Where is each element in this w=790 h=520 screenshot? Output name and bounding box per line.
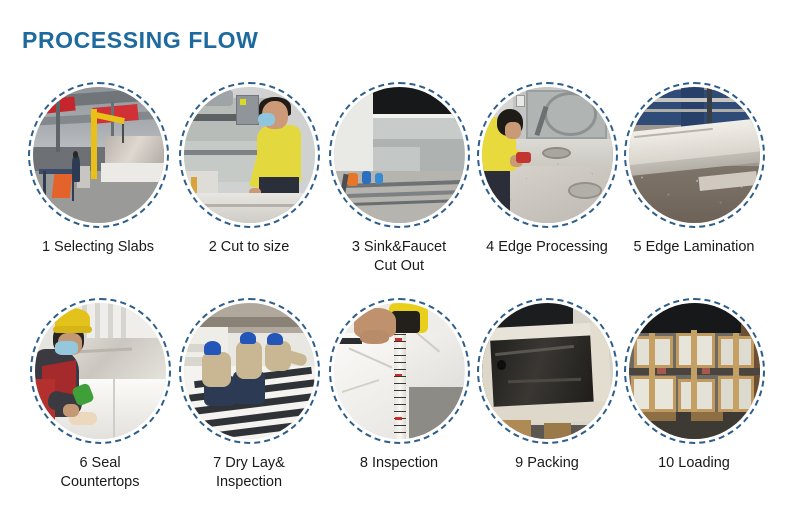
step-9-caption: 9 Packing bbox=[471, 454, 623, 473]
step-1-selecting-slabs[interactable]: 1 Selecting Slabs bbox=[22, 82, 174, 257]
step-7-image bbox=[184, 303, 315, 439]
step-7-dry-lay-inspection[interactable]: 7 Dry Lay& Inspection bbox=[173, 298, 325, 492]
step-6-caption: 6 Seal Countertops bbox=[24, 454, 176, 492]
scene-packing bbox=[482, 303, 613, 439]
scene-selecting-slabs bbox=[33, 87, 164, 223]
step-8-inspection[interactable]: 8 Inspection bbox=[323, 298, 475, 473]
scene-sink-faucet-cut-out bbox=[334, 87, 465, 223]
step-4-edge-processing[interactable]: 4 Edge Processing bbox=[471, 82, 623, 257]
step-10-loading[interactable]: 10 Loading bbox=[618, 298, 770, 473]
scene-cut-to-size bbox=[184, 87, 315, 223]
scene-edge-lamination bbox=[629, 87, 760, 223]
step-10-caption: 10 Loading bbox=[618, 454, 770, 473]
step-4-photo-frame bbox=[477, 82, 618, 228]
scene-edge-processing bbox=[482, 87, 613, 223]
step-5-edge-lamination[interactable]: 5 Edge Lamination bbox=[618, 82, 770, 257]
step-4-caption: 4 Edge Processing bbox=[471, 238, 623, 257]
step-9-packing[interactable]: 9 Packing bbox=[471, 298, 623, 473]
processing-flow-page: PROCESSING FLOW bbox=[0, 0, 790, 520]
step-3-sink-faucet-cut-out[interactable]: 3 Sink&Faucet Cut Out bbox=[323, 82, 475, 276]
step-8-caption: 8 Inspection bbox=[323, 454, 475, 473]
step-9-image bbox=[482, 303, 613, 439]
step-7-caption: 7 Dry Lay& Inspection bbox=[173, 454, 325, 492]
step-5-image bbox=[629, 87, 760, 223]
step-6-photo-frame bbox=[30, 298, 171, 444]
step-1-photo-frame bbox=[28, 82, 169, 228]
step-5-caption: 5 Edge Lamination bbox=[618, 238, 770, 257]
step-3-caption: 3 Sink&Faucet Cut Out bbox=[323, 238, 475, 276]
step-10-photo-frame bbox=[624, 298, 765, 444]
scene-seal-countertops bbox=[35, 303, 166, 439]
scene-inspection bbox=[334, 303, 465, 439]
step-2-image bbox=[184, 87, 315, 223]
step-3-image bbox=[334, 87, 465, 223]
step-5-photo-frame bbox=[624, 82, 765, 228]
scene-loading bbox=[629, 303, 760, 439]
step-7-photo-frame bbox=[179, 298, 320, 444]
step-2-caption: 2 Cut to size bbox=[173, 238, 325, 257]
scene-dry-lay-inspection bbox=[184, 303, 315, 439]
page-title: PROCESSING FLOW bbox=[22, 27, 258, 54]
step-1-caption: 1 Selecting Slabs bbox=[22, 238, 174, 257]
step-8-photo-frame bbox=[329, 298, 470, 444]
step-6-image bbox=[35, 303, 166, 439]
step-4-image bbox=[482, 87, 613, 223]
step-3-photo-frame bbox=[329, 82, 470, 228]
step-2-photo-frame bbox=[179, 82, 320, 228]
step-9-photo-frame bbox=[477, 298, 618, 444]
step-1-image bbox=[33, 87, 164, 223]
step-8-image bbox=[334, 303, 465, 439]
step-10-image bbox=[629, 303, 760, 439]
step-2-cut-to-size[interactable]: 2 Cut to size bbox=[173, 82, 325, 257]
step-6-seal-countertops[interactable]: 6 Seal Countertops bbox=[24, 298, 176, 492]
